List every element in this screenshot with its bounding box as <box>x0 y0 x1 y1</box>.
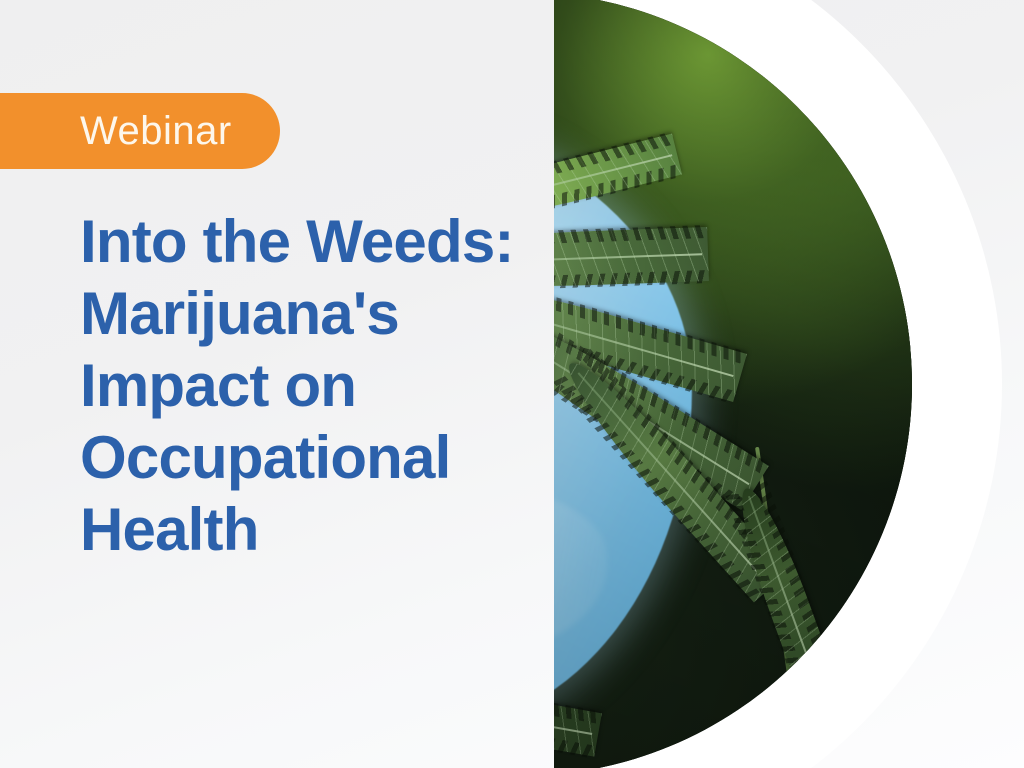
leaf-veins <box>554 349 788 603</box>
white-ring-crescent <box>554 0 1002 768</box>
cannabis-leaflet <box>554 663 602 757</box>
cannabis-leaf-photo <box>554 0 912 768</box>
photo-background <box>554 0 912 768</box>
page-title: Into the Weeds: Marijuana's Impact on Oc… <box>80 206 550 566</box>
leaf-midrib <box>577 373 767 584</box>
leaf-midrib <box>554 686 593 735</box>
leaf-midrib <box>554 154 672 213</box>
leaf-veins <box>554 134 682 235</box>
cannabis-leaflet <box>554 134 682 235</box>
cannabis-leaflet <box>727 482 836 693</box>
webinar-badge-label: Webinar <box>80 111 232 151</box>
leaf-midrib <box>554 253 702 265</box>
leaf-veins <box>727 482 836 693</box>
leaf-midrib <box>554 289 733 376</box>
photo-vignette <box>554 0 912 768</box>
leaf-midrib <box>748 496 817 682</box>
webinar-promo-card: Webinar Into the Weeds: Marijuana's Impa… <box>0 0 1024 768</box>
leaf-midrib <box>554 315 750 486</box>
cannabis-leaflet <box>554 227 709 291</box>
gloved-hand <box>554 117 692 729</box>
webinar-badge: Webinar <box>0 93 280 169</box>
leaf-veins <box>554 663 602 757</box>
leaf-stem <box>755 446 791 674</box>
cannabis-leaflet <box>554 349 788 603</box>
cannabis-leaflet <box>554 263 746 402</box>
artwork-region <box>554 0 1024 768</box>
cannabis-leaflet <box>554 286 769 510</box>
leaf-veins <box>554 286 769 510</box>
leaf-veins <box>554 227 709 291</box>
leaf-veins <box>554 263 746 402</box>
